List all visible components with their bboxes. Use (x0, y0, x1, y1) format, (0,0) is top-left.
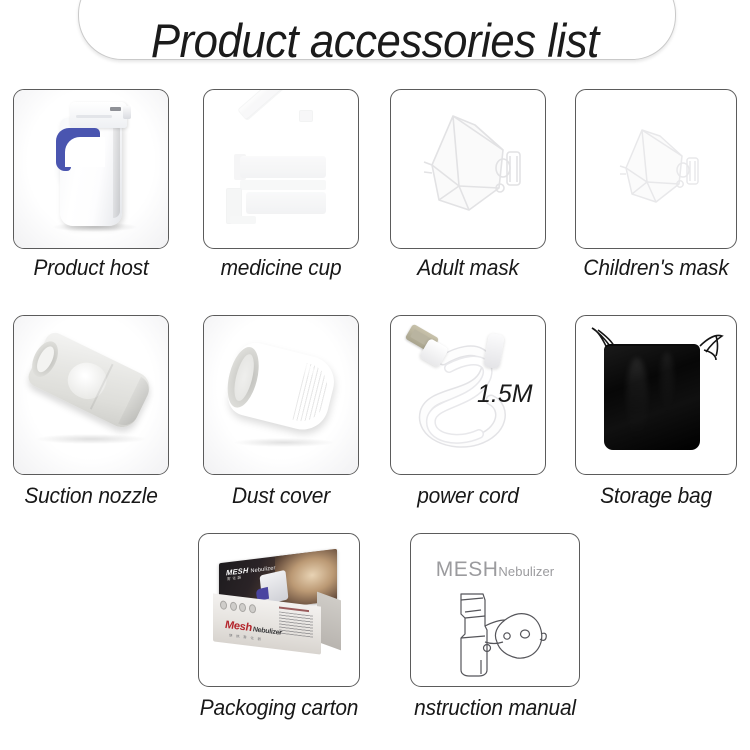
medicine-cup-icon (204, 90, 358, 248)
accessory-label-storage-bag: Storage bag (597, 483, 715, 509)
suction-nozzle-icon (14, 316, 168, 474)
accessory-label-power-cord: power cord (415, 483, 522, 509)
accessory-cell-suction-nozzle[interactable]: Suction nozzle (13, 315, 169, 525)
accessory-card-product-host[interactable] (13, 89, 169, 249)
storage-bag-icon (576, 316, 736, 474)
accessory-label-product-host: Product host (30, 255, 151, 281)
adult-mask-icon (391, 90, 545, 248)
accessory-label-packaging-carton: Packoging carton (196, 695, 363, 721)
accessory-cell-adult-mask[interactable]: Adult mask (390, 89, 546, 294)
dust-cover-icon (204, 316, 358, 474)
carton-top-brand-cn: 雾化器 (227, 575, 243, 582)
accessory-label-children-mask: Children's mask (580, 255, 733, 281)
manual-brand: MESHNebulizer (411, 558, 579, 582)
children-mask-icon (576, 90, 736, 248)
cord-length-label: 1.5M (477, 380, 533, 409)
accessory-cell-instruction-manual[interactable]: MESHNebulizer (410, 533, 580, 743)
packaging-carton-icon: MESHNebulizer 雾化器 MeshNebulizer 便 携 雾 化 … (199, 534, 359, 686)
page-title-banner: Product accessories list (0, 0, 750, 78)
accessory-cell-dust-cover[interactable]: Dust cover (203, 315, 359, 525)
accessory-cell-power-cord[interactable]: 1.5M power cord (390, 315, 546, 525)
accessory-card-power-cord[interactable]: 1.5M (390, 315, 546, 475)
power-cord-icon: 1.5M (391, 316, 545, 474)
accessory-label-medicine-cup: medicine cup (217, 255, 344, 281)
accessory-card-adult-mask[interactable] (390, 89, 546, 249)
accessory-cell-packaging-carton[interactable]: MESHNebulizer 雾化器 MeshNebulizer 便 携 雾 化 … (198, 533, 360, 743)
instruction-manual-icon: MESHNebulizer (411, 534, 579, 686)
page-title: Product accessories list (151, 17, 599, 64)
accessory-cell-product-host[interactable]: Product host (13, 89, 169, 294)
accessory-label-suction-nozzle: Suction nozzle (21, 483, 161, 509)
accessory-card-packaging-carton[interactable]: MESHNebulizer 雾化器 MeshNebulizer 便 携 雾 化 … (198, 533, 360, 687)
accessory-cell-storage-bag[interactable]: Storage bag (575, 315, 737, 525)
accessory-cell-children-mask[interactable]: Children's mask (575, 89, 737, 294)
accessory-card-dust-cover[interactable] (203, 315, 359, 475)
accessory-card-children-mask[interactable] (575, 89, 737, 249)
accessory-card-instruction-manual[interactable]: MESHNebulizer (410, 533, 580, 687)
accessory-cell-medicine-cup[interactable]: medicine cup (203, 89, 359, 294)
accessory-label-adult-mask: Adult mask (415, 255, 522, 281)
accessory-card-suction-nozzle[interactable] (13, 315, 169, 475)
accessory-label-dust-cover: Dust cover (229, 483, 332, 509)
product-host-icon (14, 90, 168, 248)
accessory-card-medicine-cup[interactable] (203, 89, 359, 249)
accessories-page: Product accessories list Product host (0, 0, 750, 750)
accessory-label-instruction-manual: nstruction manual (410, 695, 580, 721)
accessory-card-storage-bag[interactable] (575, 315, 737, 475)
